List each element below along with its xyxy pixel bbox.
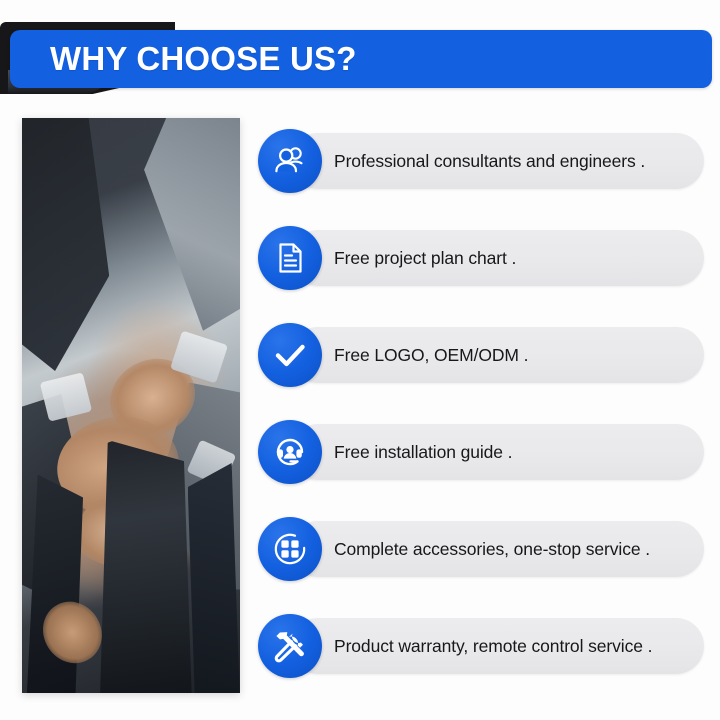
page-header: WHY CHOOSE US? [0,18,720,104]
users-icon [258,129,322,193]
grid-circle-icon [258,517,322,581]
feature-list: Professional consultants and engineers .… [258,129,704,678]
list-item-label: Free installation guide . [334,420,690,484]
list-item[interactable]: Professional consultants and engineers . [258,129,704,193]
list-item-label: Free project plan chart . [334,226,690,290]
list-item[interactable]: Free project plan chart . [258,226,704,290]
list-item[interactable]: Free installation guide . [258,420,704,484]
document-icon [258,226,322,290]
list-item-label: Free LOGO, OEM/ODM . [334,323,690,387]
list-item-label: Product warranty, remote control service… [334,614,690,678]
page-title: WHY CHOOSE US? [50,40,357,78]
why-choose-us-page: WHY CHOOSE US? [0,0,720,720]
check-icon [258,323,322,387]
list-item[interactable]: Product warranty, remote control service… [258,614,704,678]
tools-icon [258,614,322,678]
photo-overlay [22,118,240,693]
header-blue-bar: WHY CHOOSE US? [10,30,712,88]
photo-background [22,118,240,693]
list-item-label: Professional consultants and engineers . [334,129,690,193]
headset-icon [258,420,322,484]
list-item[interactable]: Complete accessories, one-stop service . [258,517,704,581]
teamwork-hands-photo [22,118,240,693]
list-item[interactable]: Free LOGO, OEM/ODM . [258,323,704,387]
list-item-label: Complete accessories, one-stop service . [334,517,690,581]
